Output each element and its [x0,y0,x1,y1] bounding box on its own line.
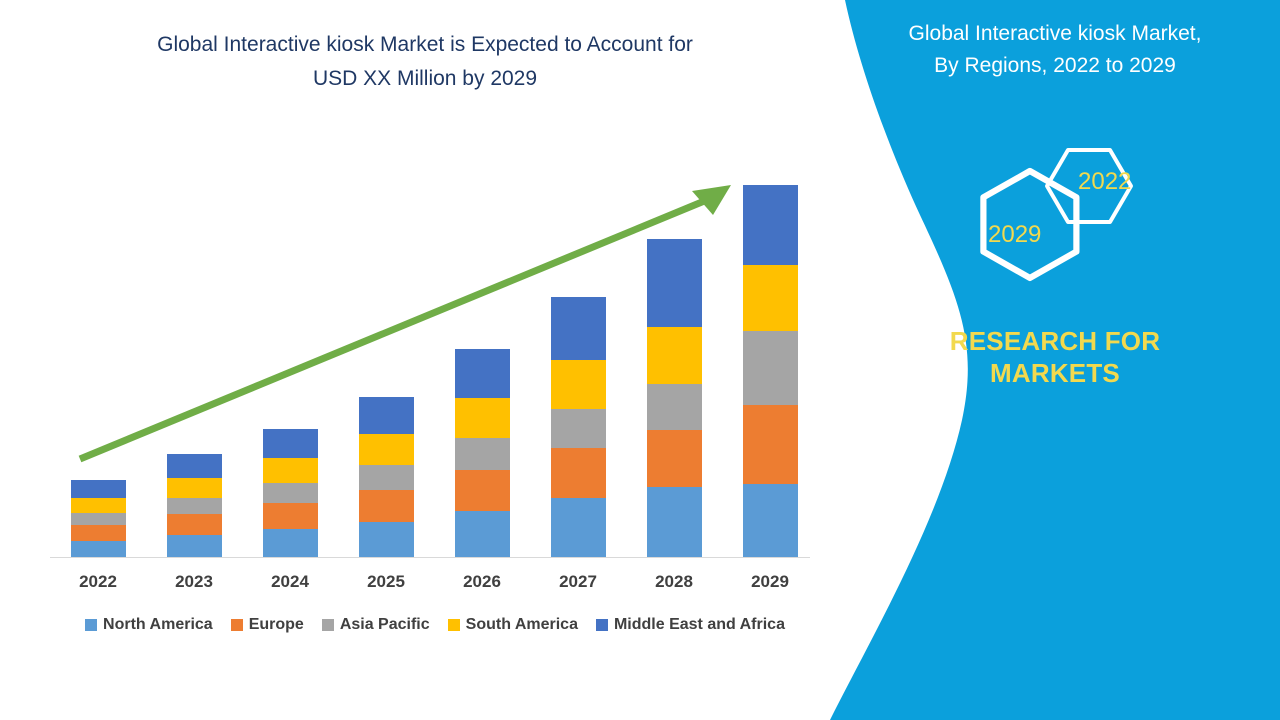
bar-segment [743,265,798,331]
bar-column-2025 [359,397,414,558]
x-axis-label-2023: 2023 [146,572,242,592]
legend-item[interactable]: Europe [231,616,304,634]
brand-name: RESEARCH FOR MARKETS [850,325,1260,389]
hexagon-outline-icon [940,140,1190,290]
legend-label: North America [103,616,213,634]
bar-segment [647,384,702,430]
bar-segment [359,490,414,522]
panel-title-line-2: By Regions, 2022 to 2029 [850,50,1260,82]
bar-segment [743,484,798,558]
bar-segment [647,239,702,327]
bar-segment [551,448,606,498]
bar-segment [359,522,414,558]
x-axis-label-2026: 2026 [434,572,530,592]
bar-segment [167,514,222,535]
bar-segment [551,297,606,361]
bar-segment [647,430,702,487]
bar-segment [263,429,318,458]
chart-legend: North AmericaEuropeAsia PacificSouth Ame… [50,616,820,634]
x-axis-label-2022: 2022 [50,572,146,592]
chart-panel: Global Interactive kiosk Market is Expec… [0,0,850,720]
bar-column-2024 [263,429,318,558]
bar-segment [263,483,318,503]
x-axis-label-2025: 2025 [338,572,434,592]
bar-segment [551,498,606,558]
bar-column-2026 [455,349,510,558]
bar-column-2023 [167,454,222,558]
bar-column-2027 [551,297,606,558]
bar-segment [647,327,702,384]
hexagon-2022-label: 2022 [1078,168,1131,196]
bar-segment [71,541,126,558]
panel-title: Global Interactive kiosk Market, By Regi… [850,18,1260,82]
bar-segment [71,525,126,541]
x-axis-labels: 20222023202420252026202720282029 [50,572,818,602]
bar-segment [359,465,414,490]
legend-swatch-icon [448,619,460,631]
legend-label: Europe [249,616,304,634]
legend-swatch-icon [596,619,608,631]
legend-swatch-icon [85,619,97,631]
panel-title-line-1: Global Interactive kiosk Market, [850,18,1260,50]
bar-column-2028 [647,239,702,558]
page-title-line-2: USD XX Million by 2029 [40,62,810,96]
legend-label: Asia Pacific [340,616,430,634]
bar-segment [551,409,606,448]
bar-segment [71,513,126,525]
bar-segment [743,405,798,484]
bar-segment [455,398,510,438]
x-axis-label-2028: 2028 [626,572,722,592]
legend-item[interactable]: Asia Pacific [322,616,430,634]
bar-segment [455,470,510,511]
brand-line-2: MARKETS [850,357,1260,389]
legend-item[interactable]: South America [448,616,578,634]
bar-segment [167,535,222,558]
brand-line-1: RESEARCH FOR [850,325,1260,357]
plot-area [50,160,818,558]
bar-segment [263,503,318,529]
hexagon-badges: 2022 2029 [940,140,1190,290]
legend-item[interactable]: North America [85,616,213,634]
bar-column-2022 [71,480,126,558]
bar-segment [743,331,798,405]
hexagon-2029-label: 2029 [988,221,1041,249]
bar-segment [647,487,702,558]
bar-segment [455,511,510,558]
branding-panel: Global Interactive kiosk Market, By Regi… [810,0,1280,720]
bar-segment [359,434,414,465]
bar-segment [455,349,510,397]
x-axis-label-2029: 2029 [722,572,818,592]
bar-segment [359,397,414,434]
bar-segment [71,498,126,513]
bar-segment [455,438,510,470]
bar-segment [551,360,606,409]
legend-item[interactable]: Middle East and Africa [596,616,785,634]
x-axis-label-2027: 2027 [530,572,626,592]
legend-swatch-icon [322,619,334,631]
page-title: Global Interactive kiosk Market is Expec… [40,28,810,96]
bar-segment [167,454,222,478]
bar-segment [167,478,222,498]
bar-segment [263,529,318,558]
bar-segment [167,498,222,514]
bar-segment [263,458,318,483]
axis-baseline [50,557,818,558]
bar-segment [71,480,126,498]
x-axis-label-2024: 2024 [242,572,338,592]
bar-segment [743,185,798,265]
bar-column-2029 [743,185,798,558]
page-title-line-1: Global Interactive kiosk Market is Expec… [40,28,810,62]
legend-swatch-icon [231,619,243,631]
legend-label: South America [466,616,578,634]
legend-label: Middle East and Africa [614,616,785,634]
